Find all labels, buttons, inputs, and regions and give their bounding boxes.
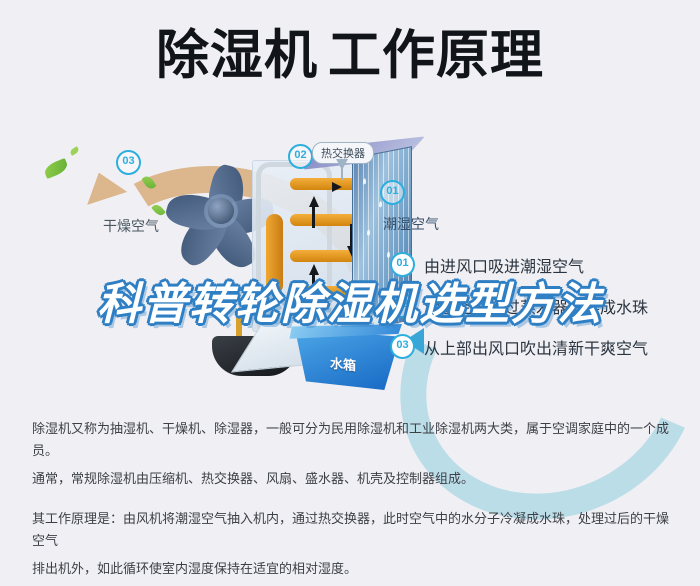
step-number-01: 01 [390, 252, 415, 277]
water-droplet [363, 178, 366, 185]
infographic-page: 除湿机工作原理 [0, 0, 700, 566]
flow-arrow-stem [312, 206, 315, 228]
diagram-badge-01: 01 [380, 180, 405, 205]
paragraph-2-line-2: 排出机外，如此循环使室内湿度保持在适宜的相对湿度。 [32, 561, 357, 576]
water-tank-label: 水箱 [330, 353, 356, 375]
leaf-icon [69, 146, 80, 156]
page-title: 除湿机工作原理 [0, 28, 700, 84]
flow-arrow-stem [312, 274, 315, 296]
paragraph-2: 其工作原理是：由风机将潮湿空气抽入机内，通过热交换器，此时空气中的水分子冷凝成水… [32, 508, 670, 552]
paragraph-1: 除湿机又称为抽湿机、干燥机、除湿器，一般可分为民用除湿机和工业除湿机两大类，属于… [32, 418, 670, 462]
compressor-cylinder [266, 214, 283, 294]
paragraph-1-line-1: 除湿机又称为抽湿机、干燥机、除湿器，一般可分为民用除湿机和工业除湿机两大类，属于… [32, 421, 669, 458]
step-text-03: 从上部出风口吹出清新干爽空气 [424, 335, 648, 359]
flow-arrow-up-icon [309, 196, 319, 207]
fan-hub [208, 198, 234, 224]
paragraph-2-line-1: 其工作原理是：由风机将潮湿空气抽入机内，通过热交换器，此时空气中的水分子冷凝成水… [32, 511, 669, 548]
list-item: 03 从上部出风口吹出清新干爽空气 [390, 334, 690, 359]
humid-air-label: 潮湿空气 [383, 214, 439, 234]
flow-arrow-up-icon [309, 264, 319, 275]
step-text-02: 潮湿空气经过蒸发器冷凝成水珠 [424, 294, 648, 318]
page-title-part1: 除湿机 [156, 26, 318, 85]
paragraph-1b: 通常，常规除湿机由压缩机、热交换器、风扇、盛水器、机壳及控制器组成。 [32, 468, 670, 490]
step-list: 01 由进风口吸进潮湿空气 02 潮湿空气经过蒸发器冷凝成水珠 03 从上部出风… [390, 252, 690, 375]
body-copy: 除湿机又称为抽湿机、干燥机、除湿器，一般可分为民用除湿机和工业除湿机两大类，属于… [32, 418, 670, 586]
leaf-icon [42, 158, 69, 179]
step-text-01: 由进风口吸进潮湿空气 [424, 253, 584, 277]
paragraph-2b: 排出机外，如此循环使室内湿度保持在适宜的相对湿度。 [32, 558, 670, 580]
flow-arrow-right-icon [332, 182, 342, 192]
water-droplet [379, 201, 382, 208]
step-number-03: 03 [390, 334, 415, 359]
paragraph-1-line-2: 通常，常规除湿机由压缩机、热交换器、风扇、盛水器、机壳及控制器组成。 [32, 471, 474, 486]
water-droplet [367, 229, 370, 236]
step-number-02: 02 [390, 293, 415, 318]
diagram-badge-02: 02 [288, 144, 313, 169]
page-title-part2: 工作原理 [328, 26, 544, 85]
water-droplet [371, 283, 374, 290]
dry-air-label: 干燥空气 [103, 216, 159, 236]
list-item: 02 潮湿空气经过蒸发器冷凝成水珠 [390, 293, 690, 318]
diagram-badge-03: 03 [116, 150, 141, 175]
list-item: 01 由进风口吸进潮湿空气 [390, 252, 690, 277]
bubble-pointer-line [341, 168, 343, 180]
